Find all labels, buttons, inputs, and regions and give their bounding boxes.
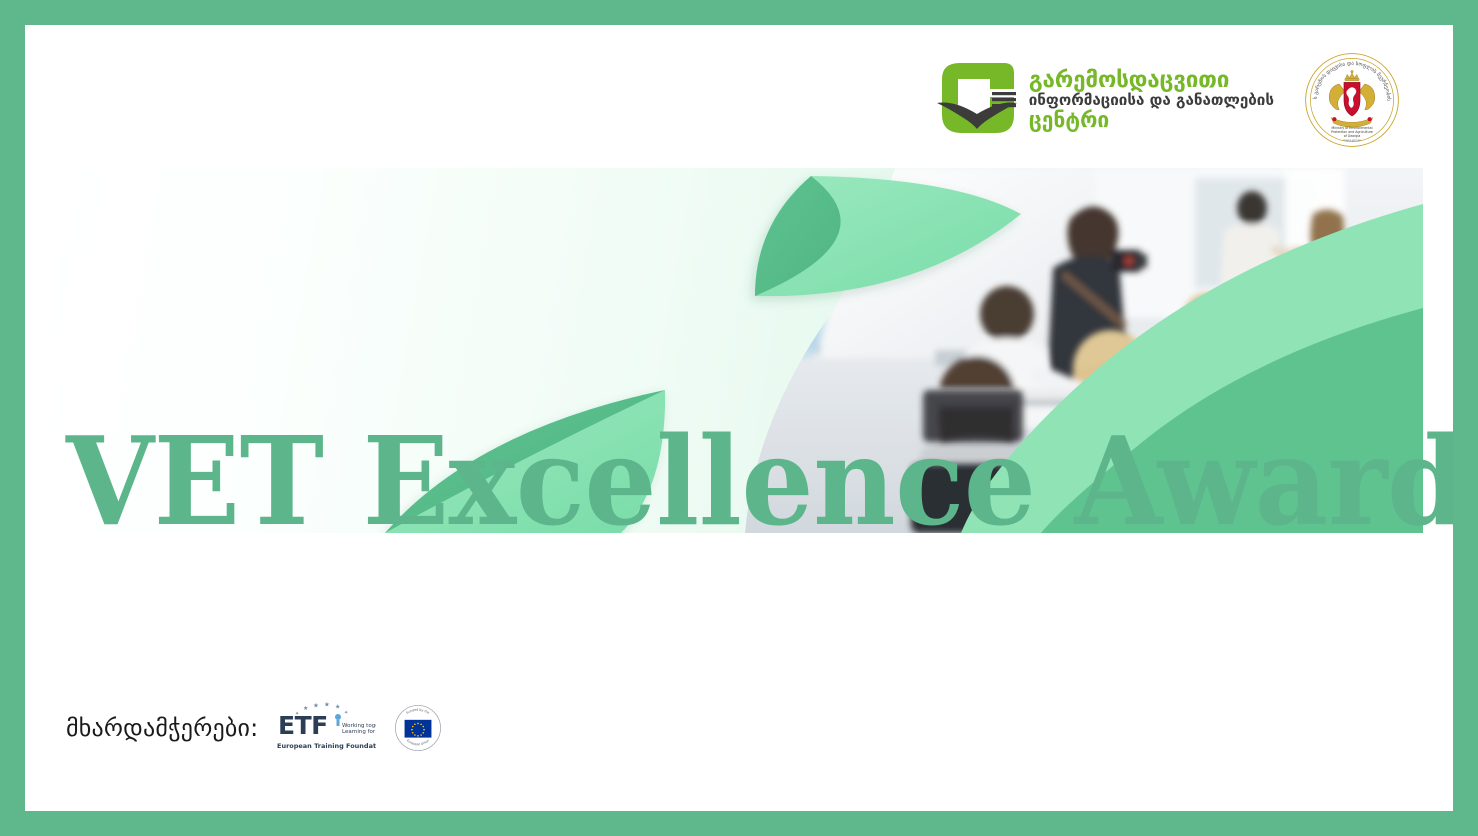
etf-logo-icon: ★ ★ ★ ★ ✦ ✦ ETF Working together Learnin… xyxy=(276,702,376,754)
svg-text:European Training Foundation: European Training Foundation xyxy=(277,742,376,750)
svg-text:★: ★ xyxy=(313,702,319,710)
svg-text:✦: ✦ xyxy=(344,710,348,716)
svg-text:ETF: ETF xyxy=(278,711,328,740)
book-leaf-logo-icon xyxy=(934,59,1020,141)
ministry-seal-icon: საქართველოს გარემოს დაცვისა და სოფლის მე… xyxy=(1304,52,1400,148)
org-logo: გარემოსდაცვითი ინფორმაციისა და განათლები… xyxy=(934,59,1274,141)
supporters-row: მხარდამჭერები: ★ ★ ★ ★ ✦ ✦ ETF Working t… xyxy=(66,702,442,754)
svg-text:mepa.gov.ge: mepa.gov.ge xyxy=(1343,138,1361,142)
svg-text:of Georgia: of Georgia xyxy=(1344,134,1361,138)
svg-text:Learning for life: Learning for life xyxy=(342,729,376,735)
org-name-line1: გარემოსდაცვითი xyxy=(1029,69,1274,92)
eu-flag-circle-icon: Funded by the European Union xyxy=(394,704,442,752)
svg-text:Working together: Working together xyxy=(342,723,376,729)
page-title: VET Excellence Award 2022 xyxy=(66,420,1312,542)
poster-canvas: გარემოსდაცვითი ინფორმაციისა და განათლები… xyxy=(25,25,1453,811)
header-logo-group: გარემოსდაცვითი ინფორმაციისა და განათლები… xyxy=(934,52,1400,148)
supporters-label: მხარდამჭერები: xyxy=(66,714,258,742)
svg-text:★: ★ xyxy=(324,702,330,709)
org-logo-text: გარემოსდაცვითი ინფორმაციისა და განათლები… xyxy=(1029,69,1274,131)
org-name-line3: ცენტრი xyxy=(1029,110,1274,131)
svg-text:★: ★ xyxy=(335,704,340,711)
org-name-line2: ინფორმაციისა და განათლების xyxy=(1029,93,1274,109)
poster-header: გარემოსდაცვითი ინფორმაციისა და განათლები… xyxy=(25,25,1453,168)
